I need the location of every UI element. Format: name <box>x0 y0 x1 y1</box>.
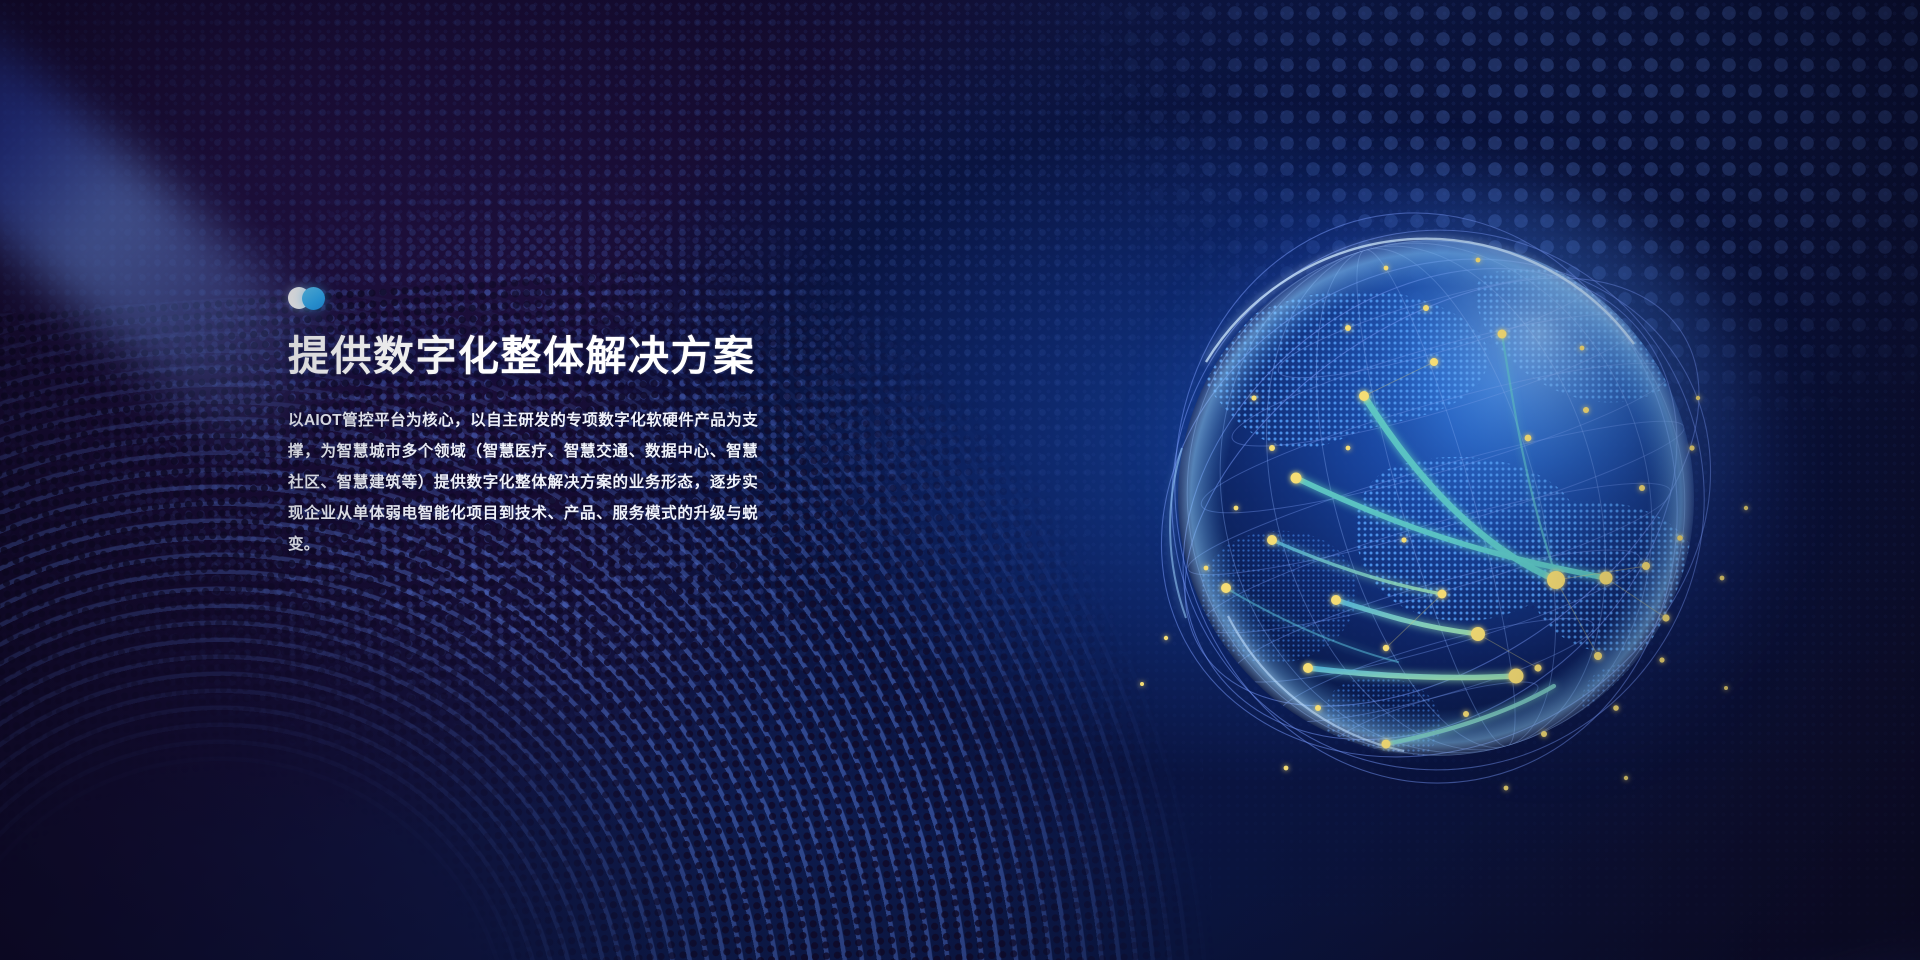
hero-banner: 提供数字化整体解决方案 以AIOT管控平台为核心，以自主研发的专项数字化软硬件产… <box>0 0 1920 960</box>
vignette-overlay <box>0 0 1920 960</box>
